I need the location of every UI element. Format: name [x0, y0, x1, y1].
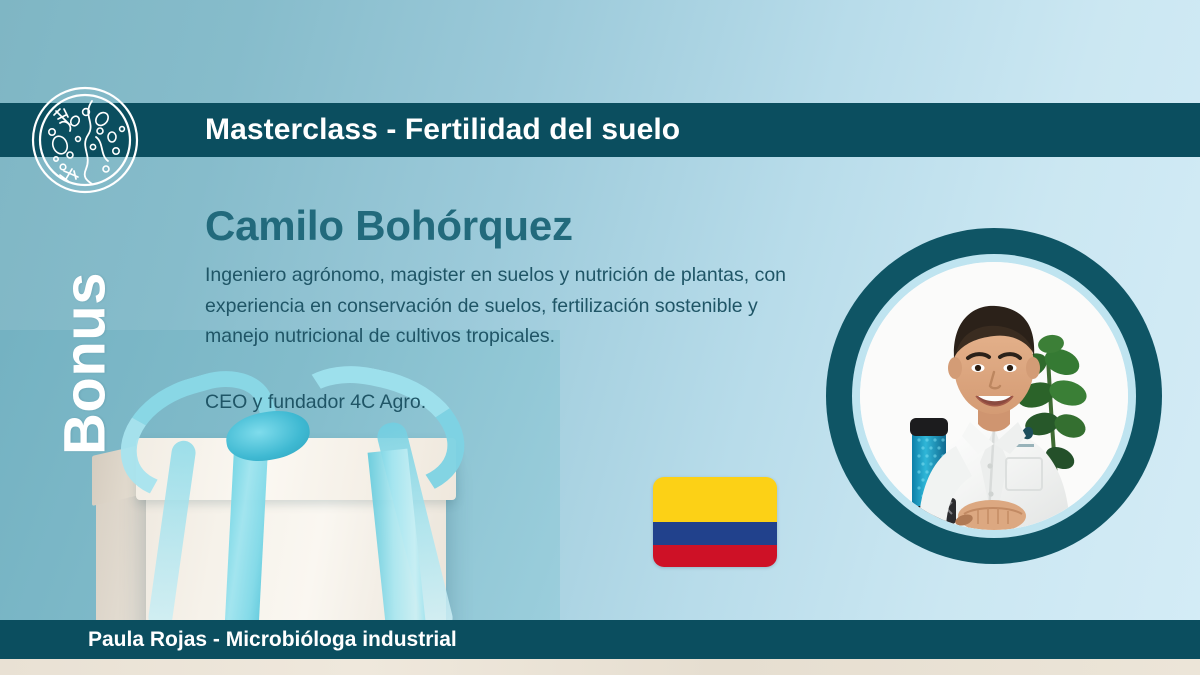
- bonus-badge: Bonus: [52, 234, 119, 494]
- flag-band-red: [653, 545, 777, 568]
- speaker-role: CEO y fundador 4C Agro.: [205, 387, 820, 417]
- header-bar: Masterclass - Fertilidad del suelo: [0, 103, 1200, 157]
- portrait-ring-gap: [852, 254, 1136, 538]
- colombia-flag-icon: [653, 477, 777, 567]
- page-title: Masterclass - Fertilidad del suelo: [205, 113, 680, 147]
- speaker-name: Camilo Bohórquez: [205, 203, 820, 248]
- speaker-bio: Ingeniero agrónomo, magister en suelos y…: [205, 260, 815, 351]
- footer-host-name: Paula Rojas - Microbióloga industrial: [88, 628, 457, 652]
- footer-photo-strip: [0, 659, 1200, 675]
- slide-canvas: Masterclass - Fertilidad del suelo Bonus…: [0, 0, 1200, 675]
- ribbon-tail-left: [147, 439, 197, 630]
- flag-band-blue: [653, 522, 777, 545]
- speaker-info: Camilo Bohórquez Ingeniero agrónomo, mag…: [205, 203, 820, 417]
- speaker-portrait-ring: [826, 228, 1162, 564]
- flag-band-yellow: [653, 477, 777, 522]
- gift-box-lid: [136, 438, 456, 500]
- ribbon-tail-right: [374, 420, 455, 636]
- avatar: [860, 262, 1128, 530]
- petri-dish-icon: [30, 85, 140, 195]
- footer-bar: Paula Rojas - Microbióloga industrial: [0, 620, 1200, 659]
